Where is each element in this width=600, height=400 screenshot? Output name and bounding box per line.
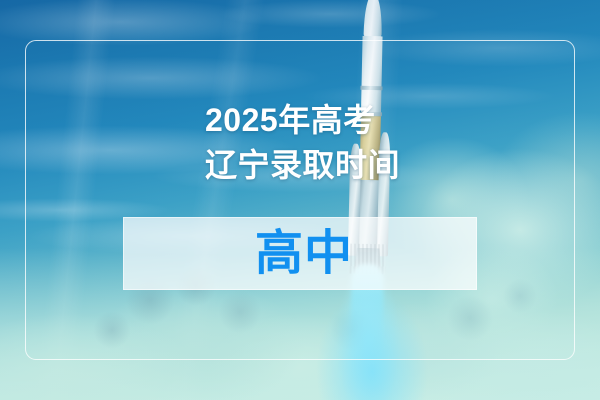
color-tint-overlay [0,0,600,400]
banner-title: 2025年高考 辽宁录取时间 [205,98,535,188]
category-label: 高中 [255,219,475,289]
promo-banner: 2025年高考 辽宁录取时间 高中 [0,0,600,400]
